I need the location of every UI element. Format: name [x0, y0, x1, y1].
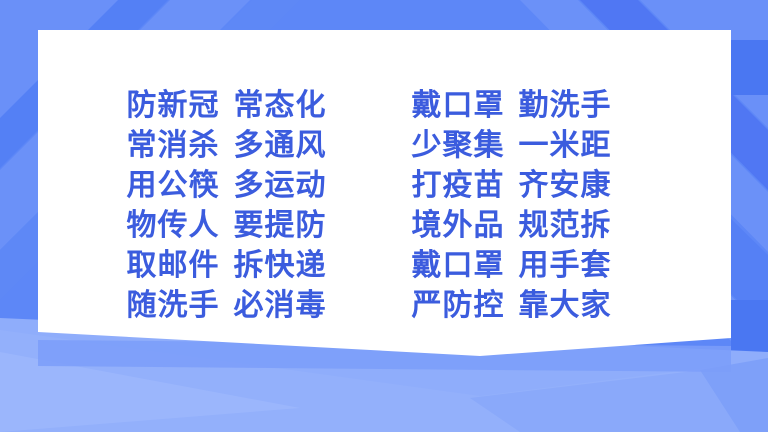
poster-root: 防新冠 常态化 戴口罩 勤洗手 常消杀 多通风 少聚集 一米距: [0, 0, 768, 432]
white-card-shape: [0, 0, 768, 432]
card-face: [38, 30, 731, 356]
